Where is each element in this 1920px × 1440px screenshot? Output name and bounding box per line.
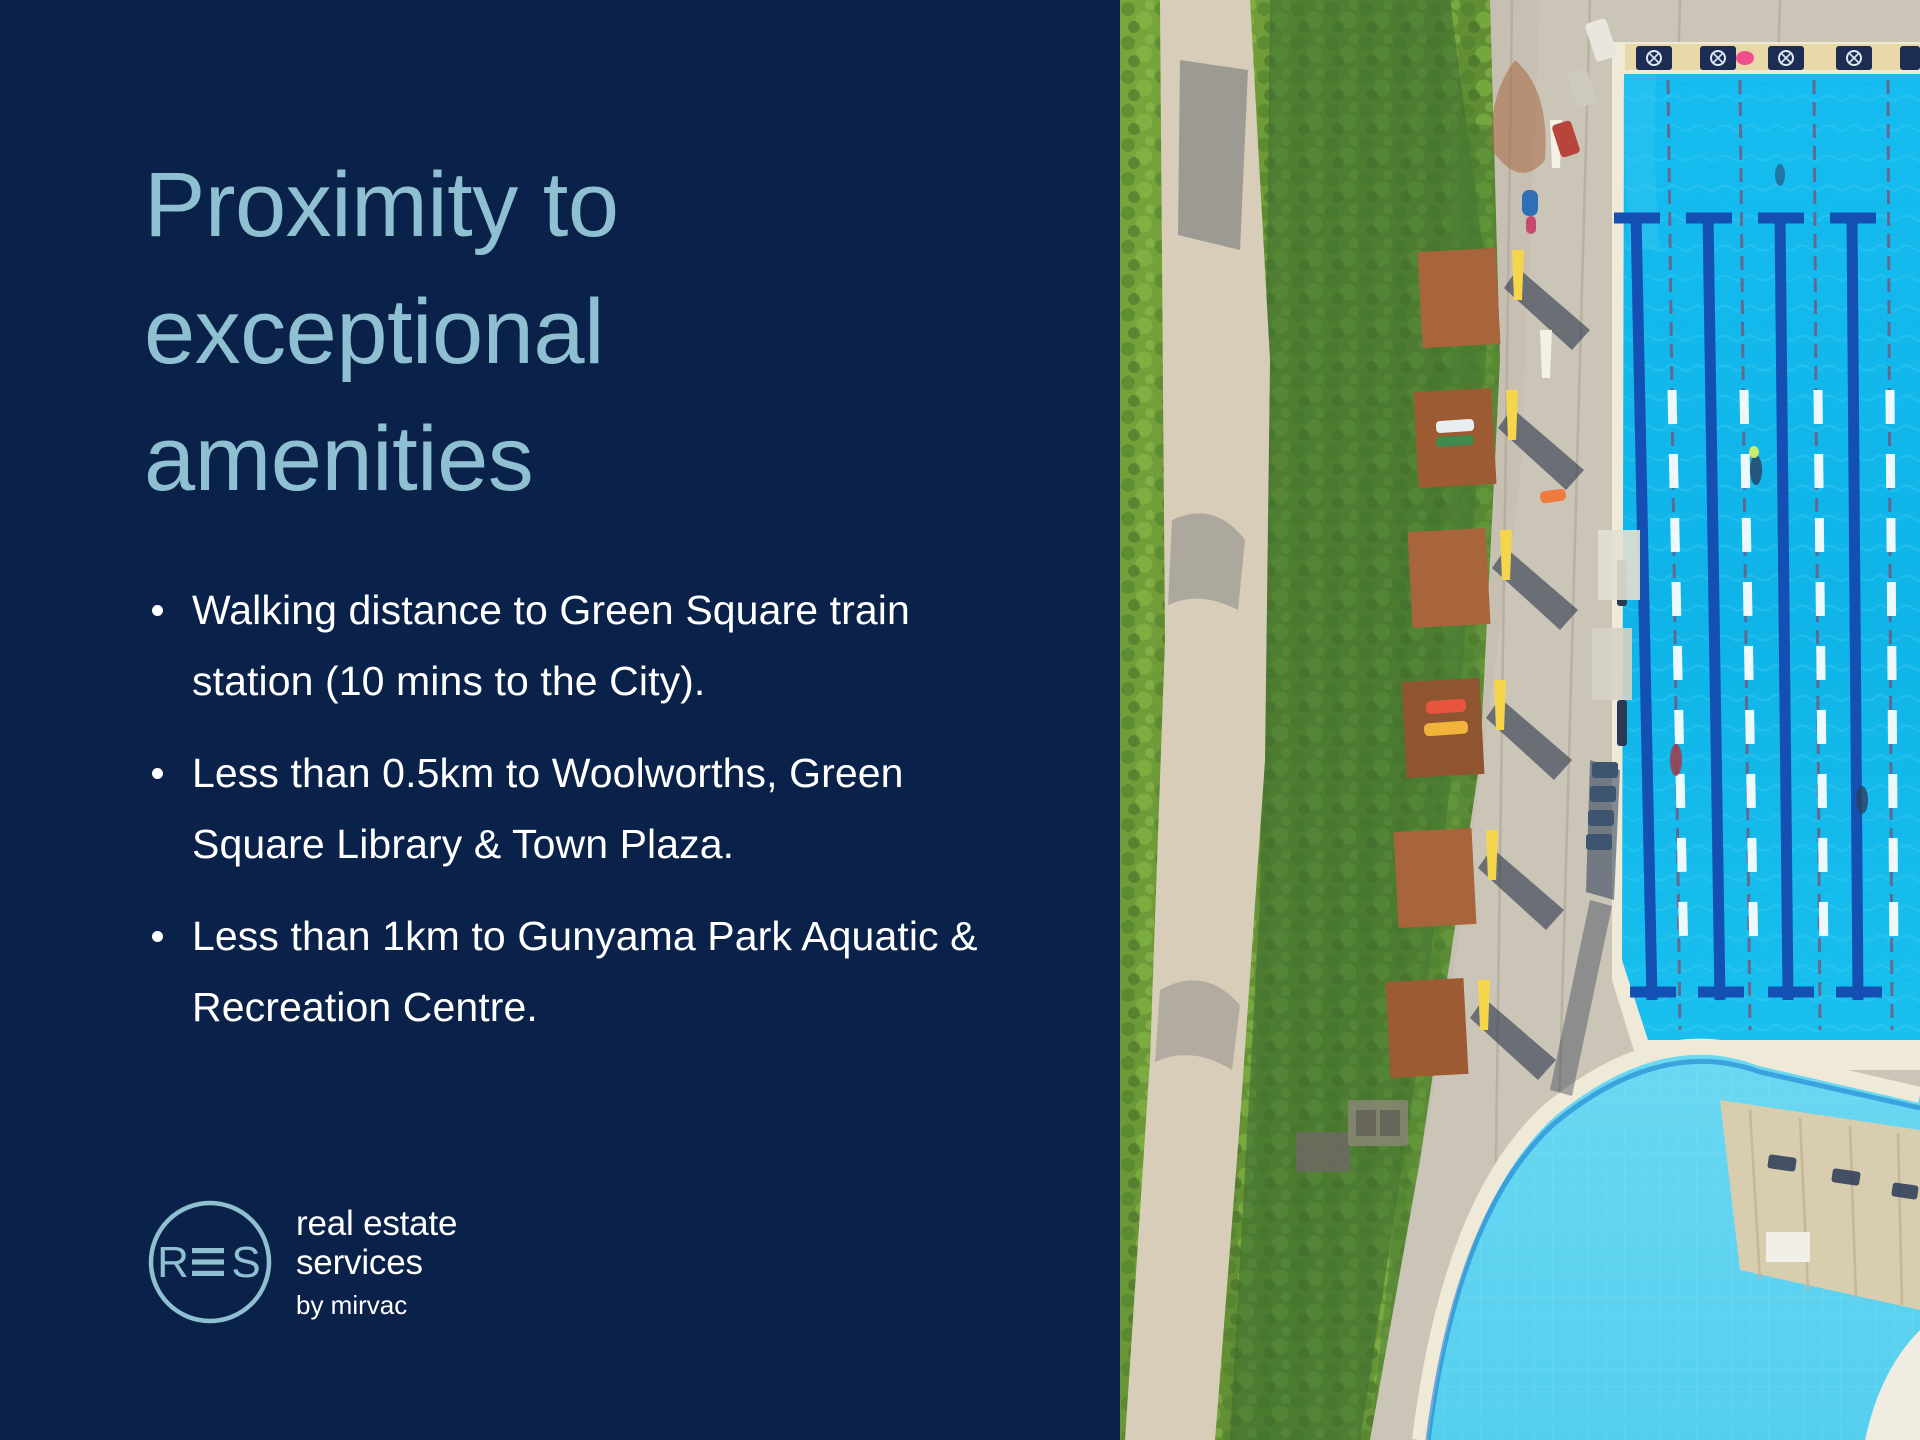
bullet-dot-icon (152, 768, 163, 779)
logo-line-2: services (296, 1243, 457, 1282)
logo-lockup: R S real estate services by mirvac (146, 1198, 457, 1326)
list-item-label: Less than 1km to Gunyama Park Aquatic & … (192, 913, 978, 1030)
amenities-bullet-list: Walking distance to Green Square train s… (146, 575, 1016, 1042)
content-panel: Proximity to exceptional amenities Walki… (0, 0, 1120, 1440)
list-item: Walking distance to Green Square train s… (146, 575, 1016, 716)
bullet-dot-icon (152, 605, 163, 616)
list-item: Less than 1km to Gunyama Park Aquatic & … (146, 901, 1016, 1042)
list-item-label: Walking distance to Green Square train s… (192, 587, 910, 704)
svg-text:R: R (157, 1238, 189, 1287)
list-item: Less than 0.5km to Woolworths, Green Squ… (146, 738, 1016, 879)
logo-byline: by mirvac (296, 1291, 457, 1320)
bullet-dot-icon (152, 931, 163, 942)
aquatic-centre-photo (1120, 0, 1920, 1440)
list-item-label: Less than 0.5km to Woolworths, Green Squ… (192, 750, 904, 867)
slide: Proximity to exceptional amenities Walki… (0, 0, 1920, 1440)
logo-wordmark: real estate services by mirvac (296, 1204, 457, 1320)
svg-text:S: S (231, 1238, 260, 1287)
page-title: Proximity to exceptional amenities (144, 142, 924, 523)
res-circle-monogram-icon: R S (146, 1198, 274, 1326)
logo-line-1: real estate (296, 1204, 457, 1243)
